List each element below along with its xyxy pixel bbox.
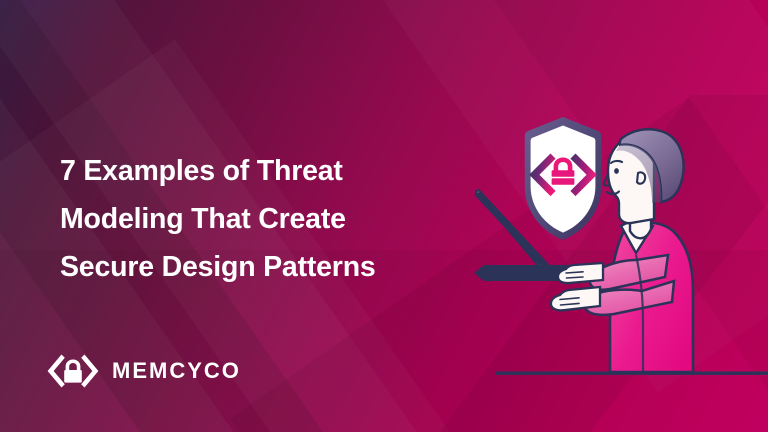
hero-illustration	[440, 95, 768, 432]
page-title: 7 Examples of Threat Modeling That Creat…	[60, 147, 460, 291]
memcyco-wordmark: MEMCYCO	[112, 360, 241, 382]
person-with-laptop-and-shield-illustration	[440, 95, 768, 432]
page-title-line-2: Modeling That Create	[60, 195, 460, 243]
shield-lock-body-icon	[552, 178, 575, 184]
memcyco-brackets-lock-icon	[47, 350, 99, 392]
memcyco-logo[interactable]: MEMCYCO	[47, 350, 241, 392]
article-hero-banner: 7 Examples of Threat Modeling That Creat…	[0, 0, 768, 432]
shield-lock-body-icon	[552, 170, 575, 176]
page-title-line-1: 7 Examples of Threat	[60, 147, 460, 195]
person-eye	[614, 168, 619, 174]
page-title-line-3: Secure Design Patterns	[60, 243, 460, 291]
person-ear	[637, 172, 645, 183]
security-shield-with-code-lock-icon	[525, 117, 601, 240]
